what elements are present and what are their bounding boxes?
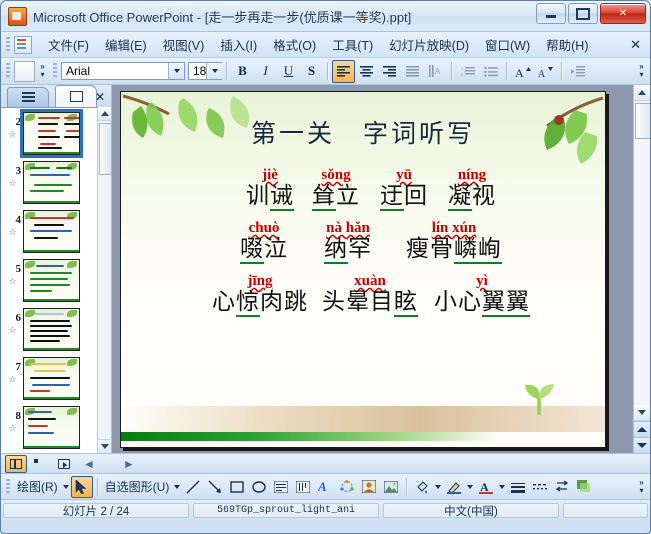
pinyin-annotation: jiè	[246, 167, 294, 183]
decrease-font-size-icon[interactable]: A	[534, 60, 557, 83]
chinese-word: 纳罕	[324, 236, 372, 263]
scroll-right-arrow-icon[interactable]: ►	[123, 457, 135, 471]
font-color-icon[interactable]: A	[475, 476, 497, 498]
wordart-icon[interactable]: A	[314, 476, 336, 498]
chevron-down-icon[interactable]	[499, 485, 505, 489]
align-left-icon[interactable]	[332, 60, 355, 83]
thumbnail-text-line	[30, 272, 72, 274]
dash-style-icon[interactable]	[529, 476, 551, 498]
scroll-up-arrow-icon[interactable]	[98, 107, 111, 121]
thumbnail-text-line	[30, 190, 64, 192]
outline-view-icon	[22, 92, 35, 103]
thumbnail-text-line	[30, 284, 70, 286]
close-button[interactable]: ✕	[600, 3, 646, 24]
scroll-up-arrow-icon[interactable]	[634, 85, 650, 101]
thumbnail-text-line	[30, 290, 52, 292]
vocabulary-item[interactable]: yū迂回	[380, 167, 428, 210]
thumbnail-text-line	[30, 330, 68, 332]
document-icon	[14, 36, 32, 54]
maximize-button[interactable]	[568, 3, 598, 24]
chinese-word: 迂回	[380, 183, 428, 210]
sprout-graphic	[521, 381, 557, 415]
slide-thumbnail-number: 8	[4, 406, 21, 422]
drawing-toolbar: 绘图(R) 自选图形(U) A	[1, 473, 650, 499]
underline-button[interactable]: U	[277, 60, 300, 83]
scroll-left-arrow-icon[interactable]: ◄	[83, 457, 95, 471]
menu-item-view[interactable]: 视图(V)	[155, 32, 213, 57]
menu-bar: 文件(F) 编辑(E) 视图(V) 插入(I) 格式(O) 工具(T) 幻灯片放…	[1, 32, 650, 58]
arrow-icon[interactable]	[204, 476, 226, 498]
menu-item-slideshow[interactable]: 幻灯片放映(D)	[381, 32, 477, 57]
pinyin-annotation: sǒng	[312, 167, 360, 183]
toolbar-grip-handle[interactable]	[6, 63, 10, 79]
slide-thumbnail-preview[interactable]	[23, 259, 80, 302]
slide-navigation-pane: ✕ 2☆3☆4☆5☆6☆7☆8☆	[1, 85, 112, 453]
clip-art-icon[interactable]	[358, 476, 380, 498]
format-toolbar-grip-handle[interactable]	[53, 63, 57, 79]
scroll-down-arrow-icon[interactable]	[634, 405, 650, 421]
formatting-toolbar: »▾ Arial 18 B I U S	[1, 58, 650, 85]
thumbnail-text-line	[66, 130, 80, 132]
vocabulary-row: chuò啜泣nà hǎn纳罕lín xún瘦骨嶙峋	[121, 220, 605, 263]
chevron-down-icon[interactable]	[174, 485, 180, 489]
pane-tab-row: ✕	[1, 85, 111, 108]
thumbnail-text-line	[34, 313, 64, 315]
animation-star-icon[interactable]: ☆	[5, 128, 20, 140]
menu-item-edit[interactable]: 编辑(E)	[97, 32, 155, 57]
chevron-down-icon[interactable]	[435, 485, 441, 489]
thumbnail-text-line	[34, 370, 66, 372]
window-title: Microsoft Office PowerPoint - [走一步再走一步(优…	[33, 7, 411, 26]
slide-thumbnail-item[interactable]: 6☆	[4, 308, 111, 351]
font-size-value: 18	[193, 64, 206, 78]
status-spacer	[563, 503, 648, 518]
thumbnail-text-line	[30, 335, 70, 337]
pinyin-annotation: níng	[448, 167, 496, 183]
pinyin-annotation: lín xún	[406, 220, 502, 236]
slide-thumbnail-list[interactable]: 2☆3☆4☆5☆6☆7☆8☆	[1, 108, 111, 453]
thumbnail-text-line	[30, 325, 72, 327]
thumbnail-text-line	[28, 425, 48, 427]
diagram-icon[interactable]	[336, 476, 358, 498]
menu-item-tools[interactable]: 工具(T)	[324, 32, 381, 57]
pinyin-annotation: yū	[380, 167, 428, 183]
thumbnail-text-line	[40, 143, 56, 145]
vocabulary-grid[interactable]: jiè训诫sǒng耸立yū迂回níng凝视chuò啜泣nà hǎn纳罕lín x…	[121, 167, 605, 326]
increase-indent-icon[interactable]	[566, 60, 589, 83]
slide-title[interactable]: 第一关 字词听写	[121, 114, 605, 150]
increase-font-size-icon[interactable]: A	[511, 60, 534, 83]
close-pane-button[interactable]: ✕	[95, 90, 105, 104]
svg-text:2: 2	[461, 72, 464, 77]
svg-text:A: A	[538, 69, 546, 78]
standard-toolbar-overflow-button[interactable]: »▾	[37, 61, 48, 82]
font-name-combo[interactable]: Arial	[61, 62, 185, 80]
chinese-word: 心惊肉跳	[212, 289, 308, 316]
align-center-icon[interactable]	[355, 60, 378, 83]
slide-thumbnail-number: 3	[4, 161, 21, 177]
chevron-down-icon[interactable]	[467, 485, 473, 489]
vocabulary-row: jiè训诫sǒng耸立yū迂回níng凝视	[121, 167, 605, 210]
title-bar: Microsoft Office PowerPoint - [走一步再走一步(优…	[1, 1, 650, 32]
thumbnail-text-line	[64, 117, 80, 119]
chinese-word: 凝视	[448, 183, 496, 210]
align-right-icon[interactable]	[378, 60, 401, 83]
pinyin-annotation: yì	[434, 273, 530, 289]
language-indicator[interactable]: 中文(中国)	[383, 503, 559, 518]
rectangle-icon[interactable]	[226, 476, 248, 498]
vocabulary-item[interactable]: nà hǎn纳罕	[324, 220, 372, 263]
close-document-button[interactable]: ✕	[630, 37, 641, 53]
chevron-down-icon[interactable]	[206, 63, 222, 79]
drawing-toolbar-overflow-button[interactable]: »▾	[636, 476, 647, 497]
thumbnail-text-line	[30, 217, 74, 219]
slide-thumbnail-preview[interactable]	[23, 112, 80, 155]
vocabulary-item[interactable]: níng凝视	[448, 167, 496, 210]
thumbnail-text-line	[28, 432, 54, 434]
draw-menu-button[interactable]: 绘图(R)	[14, 478, 61, 495]
slide-thumbnail-item[interactable]: 3☆	[4, 161, 111, 204]
shadow-style-icon[interactable]	[573, 476, 595, 498]
line-style-icon[interactable]	[507, 476, 529, 498]
numbered-list-icon[interactable]: 12	[456, 60, 479, 83]
chinese-word: 头晕目眩	[322, 289, 418, 316]
vertical-text-box-icon[interactable]	[292, 476, 314, 498]
scroll-down-arrow-icon[interactable]	[98, 439, 111, 453]
chevron-down-icon[interactable]	[63, 485, 69, 489]
design-template-name[interactable]: 569TGp_sprout_light_ani	[193, 503, 379, 518]
thumbnail-text-line	[30, 340, 60, 342]
animation-star-icon[interactable]: ☆	[5, 422, 20, 434]
slide-thumbnail-preview[interactable]	[23, 406, 80, 449]
vocabulary-row: jīng心惊肉跳xuàn头晕目眩yì小心翼翼	[121, 273, 605, 316]
slide-thumbnail-preview[interactable]	[23, 161, 80, 204]
menu-grip-handle[interactable]	[6, 37, 10, 53]
thumbnail-text-line	[30, 363, 66, 365]
slide-thumbnail-item[interactable]: 5☆	[4, 259, 111, 302]
thumbnail-text-line	[64, 123, 80, 125]
font-size-combo[interactable]: 18	[188, 62, 222, 80]
slide-counter: 幻灯片 2 / 24	[3, 503, 189, 518]
drawbar-grip-handle[interactable]	[6, 479, 10, 495]
slide-thumbnail-preview[interactable]	[23, 210, 80, 253]
slide-editing-canvas[interactable]: 第一关 字词听写 jiè训诫sǒng耸立yū迂回níng凝视chuò啜泣nà h…	[112, 85, 650, 453]
slide-thumbnail-item[interactable]: 7☆	[4, 357, 111, 400]
slide-thumbnail-number: 4	[4, 210, 21, 226]
thumbnail-text-line	[34, 224, 64, 226]
animation-star-icon[interactable]: ☆	[5, 373, 20, 385]
formatting-toolbar-overflow-button[interactable]: »▾	[636, 61, 647, 82]
svg-text:A: A	[515, 66, 524, 78]
vocabulary-item[interactable]: lín xún瘦骨嶙峋	[406, 220, 502, 263]
thumbnail-text-line	[34, 184, 72, 186]
main-workspace: ✕ 2☆3☆4☆5☆6☆7☆8☆	[1, 85, 650, 453]
line-icon[interactable]	[182, 476, 204, 498]
slide-show-view-button[interactable]	[53, 455, 75, 473]
slide-vertical-scrollbar[interactable]	[633, 85, 650, 453]
thumbnail-text-line	[30, 230, 72, 232]
chinese-word: 瘦骨嶙峋	[406, 236, 502, 263]
normal-view-button[interactable]	[5, 455, 27, 473]
vertical-scrollbar-thumb[interactable]	[635, 103, 650, 139]
chinese-word: 训诫	[246, 183, 294, 210]
svg-text:1: 1	[461, 66, 464, 71]
menu-item-format[interactable]: 格式(O)	[265, 32, 324, 57]
window-controls: ✕	[536, 3, 646, 24]
thumbnail-text-line	[30, 278, 68, 280]
chinese-word: 啜泣	[240, 236, 288, 263]
green-accent-bar	[121, 432, 605, 441]
tab-outline[interactable]	[7, 87, 49, 107]
animation-star-icon[interactable]: ☆	[5, 324, 20, 336]
slide-thumbnail-item[interactable]: 8☆	[4, 406, 111, 449]
select-arrow-icon[interactable]	[71, 476, 93, 498]
vocabulary-item[interactable]: chuò啜泣	[240, 220, 288, 263]
font-name-value: Arial	[66, 64, 90, 78]
thumbnail-text-line	[28, 411, 52, 413]
thumbnail-text-line	[38, 117, 60, 119]
thumbnail-text-line	[30, 390, 50, 392]
slide-thumbnail-number: 5	[4, 259, 21, 275]
powerpoint-window: Microsoft Office PowerPoint - [走一步再走一步(优…	[0, 0, 651, 534]
thumbnail-text-line	[36, 265, 64, 267]
slide-thumbnail-number: 6	[4, 308, 21, 324]
thumbnail-text-line	[38, 123, 58, 125]
thumbnail-text-line	[30, 167, 50, 169]
slide-sorter-view-button[interactable]	[29, 455, 51, 473]
animation-star-icon[interactable]: ☆	[5, 226, 20, 238]
vocabulary-item[interactable]: xuàn头晕目眩	[322, 273, 418, 316]
thumbnail-text-line	[30, 320, 70, 322]
chinese-word: 耸立	[312, 183, 360, 210]
slide-thumbnail-number: 7	[4, 357, 21, 373]
thumbnail-text-line	[38, 147, 62, 149]
animation-star-icon[interactable]: ☆	[5, 177, 20, 189]
new-document-icon[interactable]	[14, 61, 35, 82]
vocabulary-item[interactable]: yì小心翼翼	[434, 273, 530, 316]
menu-item-file[interactable]: 文件(F)	[40, 32, 97, 57]
vocabulary-item[interactable]: sǒng耸立	[312, 167, 360, 210]
oval-icon[interactable]	[248, 476, 270, 498]
status-bar: 幻灯片 2 / 24 569TGp_sprout_light_ani 中文(中国…	[1, 499, 650, 521]
menu-item-help[interactable]: 帮助(H)	[538, 32, 596, 57]
menu-item-window[interactable]: 窗口(W)	[477, 32, 538, 57]
view-button-strip: ◄ ►	[1, 453, 650, 473]
horizontal-scroll-arrows[interactable]: ◄ ►	[83, 457, 135, 471]
vocabulary-item[interactable]: jīng心惊肉跳	[212, 273, 308, 316]
thumbnail-text-line	[38, 130, 56, 132]
thumbnail-text-line	[34, 237, 58, 239]
fill-color-icon[interactable]	[411, 476, 433, 498]
powerpoint-app-icon	[8, 7, 27, 26]
arrow-style-icon[interactable]	[551, 476, 573, 498]
thumbnail-text-line	[38, 136, 60, 138]
slide-thumbnail-preview[interactable]	[23, 308, 80, 351]
justify-icon[interactable]	[401, 60, 424, 83]
slide-thumbnail-preview[interactable]	[23, 357, 80, 400]
vocabulary-item[interactable]: jiè训诫	[246, 167, 294, 210]
tab-slides[interactable]	[55, 85, 97, 107]
thumbnail-text-line	[30, 174, 70, 176]
svg-text:A: A	[435, 67, 441, 76]
slide-thumbnail-item[interactable]: 4☆	[4, 210, 111, 253]
thumbnail-text-line	[64, 136, 80, 138]
bold-button[interactable]: B	[231, 60, 254, 83]
chevron-down-icon[interactable]	[168, 63, 184, 79]
chinese-word: 小心翼翼	[434, 289, 530, 316]
bulleted-list-icon[interactable]	[479, 60, 502, 83]
minimize-button[interactable]	[536, 3, 566, 24]
slide-thumbnail-number: 2	[4, 112, 21, 128]
menu-item-insert[interactable]: 插入(I)	[212, 32, 265, 57]
svg-text:A: A	[480, 480, 489, 494]
text-shadow-button[interactable]: S	[300, 60, 323, 83]
svg-text:A: A	[318, 480, 327, 493]
text-box-icon[interactable]	[270, 476, 292, 498]
current-slide[interactable]: 第一关 字词听写 jiè训诫sǒng耸立yū迂回níng凝视chuò啜泣nà h…	[120, 91, 606, 448]
pinyin-annotation: xuàn	[322, 273, 418, 289]
autoshapes-menu-button[interactable]: 自选图形(U)	[102, 478, 173, 495]
scrollbar-bottom-group	[634, 405, 650, 453]
slide-thumbnail-item[interactable]: 2☆	[4, 112, 111, 155]
thumbnail-text-line	[30, 377, 70, 379]
pinyin-annotation: chuò	[240, 220, 288, 236]
pinyin-annotation: nà hǎn	[324, 220, 372, 236]
thumbnail-text-line	[56, 167, 72, 169]
pinyin-annotation: jīng	[212, 273, 308, 289]
thumbnail-scrollbar[interactable]	[97, 107, 111, 453]
text-direction-icon[interactable]: A	[424, 60, 447, 83]
scrollbar-thumb[interactable]	[99, 123, 112, 175]
italic-button[interactable]: I	[254, 60, 277, 83]
thumbnail-text-line	[32, 384, 70, 386]
thumbnail-text-line	[28, 418, 56, 420]
slides-view-icon	[70, 91, 83, 102]
line-color-icon[interactable]	[443, 476, 465, 498]
previous-slide-button[interactable]	[634, 421, 650, 437]
next-slide-button[interactable]	[634, 437, 650, 453]
picture-icon[interactable]	[380, 476, 402, 498]
animation-star-icon[interactable]: ☆	[5, 275, 20, 287]
